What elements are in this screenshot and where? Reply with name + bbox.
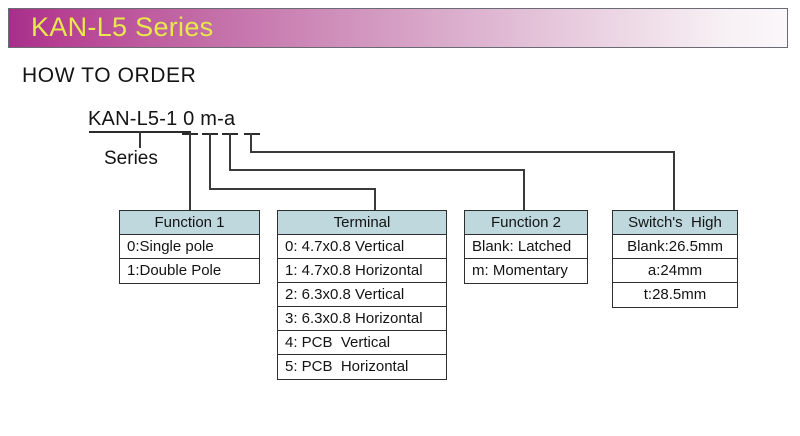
table-function1: Function 1 0:Single pole 1:Double Pole xyxy=(119,210,260,284)
table-row[interactable]: Blank:26.5mm xyxy=(613,235,737,259)
switchs-high-connector-stem xyxy=(250,133,252,153)
table-terminal: Terminal 0: 4.7x0.8 Vertical 1: 4.7x0.8 … xyxy=(277,210,447,380)
series-banner: KAN-L5 Series xyxy=(8,8,788,48)
function2-connector-drop xyxy=(523,169,525,210)
table-row[interactable]: m: Momentary xyxy=(465,259,587,283)
table-switchs-high-header: Switch's High xyxy=(613,211,737,235)
table-row[interactable]: 2: 6.3x0.8 Vertical xyxy=(278,283,446,307)
switchs-high-connector-drop xyxy=(673,151,675,210)
table-row[interactable]: 5: PCB Horizontal xyxy=(278,355,446,379)
function2-connector-run xyxy=(229,169,525,171)
table-function2: Function 2 Blank: Latched m: Momentary xyxy=(464,210,588,284)
series-label: Series xyxy=(104,148,158,170)
series-connector-stem xyxy=(139,131,141,148)
table-row[interactable]: 0:Single pole xyxy=(120,235,259,259)
table-row[interactable]: Blank: Latched xyxy=(465,235,587,259)
part-number-code: KAN-L5-1 0 m-a xyxy=(88,108,235,131)
switchs-high-connector-run xyxy=(250,151,675,153)
table-row[interactable]: t:28.5mm xyxy=(613,283,737,307)
switchs-high-tick xyxy=(244,133,260,135)
terminal-connector-stem xyxy=(209,133,211,190)
table-row[interactable]: 1: 4.7x0.8 Horizontal xyxy=(278,259,446,283)
terminal-connector-drop xyxy=(374,188,376,210)
table-row[interactable]: 1:Double Pole xyxy=(120,259,259,283)
function1-connector xyxy=(189,133,191,210)
table-function2-header: Function 2 xyxy=(465,211,587,235)
table-row[interactable]: a:24mm xyxy=(613,259,737,283)
table-function1-header: Function 1 xyxy=(120,211,259,235)
table-row[interactable]: 3: 6.3x0.8 Horizontal xyxy=(278,307,446,331)
banner-title: KAN-L5 Series xyxy=(31,12,213,43)
table-row[interactable]: 4: PCB Vertical xyxy=(278,331,446,355)
table-switchs-high: Switch's High Blank:26.5mm a:24mm t:28.5… xyxy=(612,210,738,308)
page-title: HOW TO ORDER xyxy=(22,64,196,88)
function2-connector-stem xyxy=(229,133,231,171)
table-row[interactable]: 0: 4.7x0.8 Vertical xyxy=(278,235,446,259)
terminal-connector-run xyxy=(209,188,376,190)
table-terminal-header: Terminal xyxy=(278,211,446,235)
